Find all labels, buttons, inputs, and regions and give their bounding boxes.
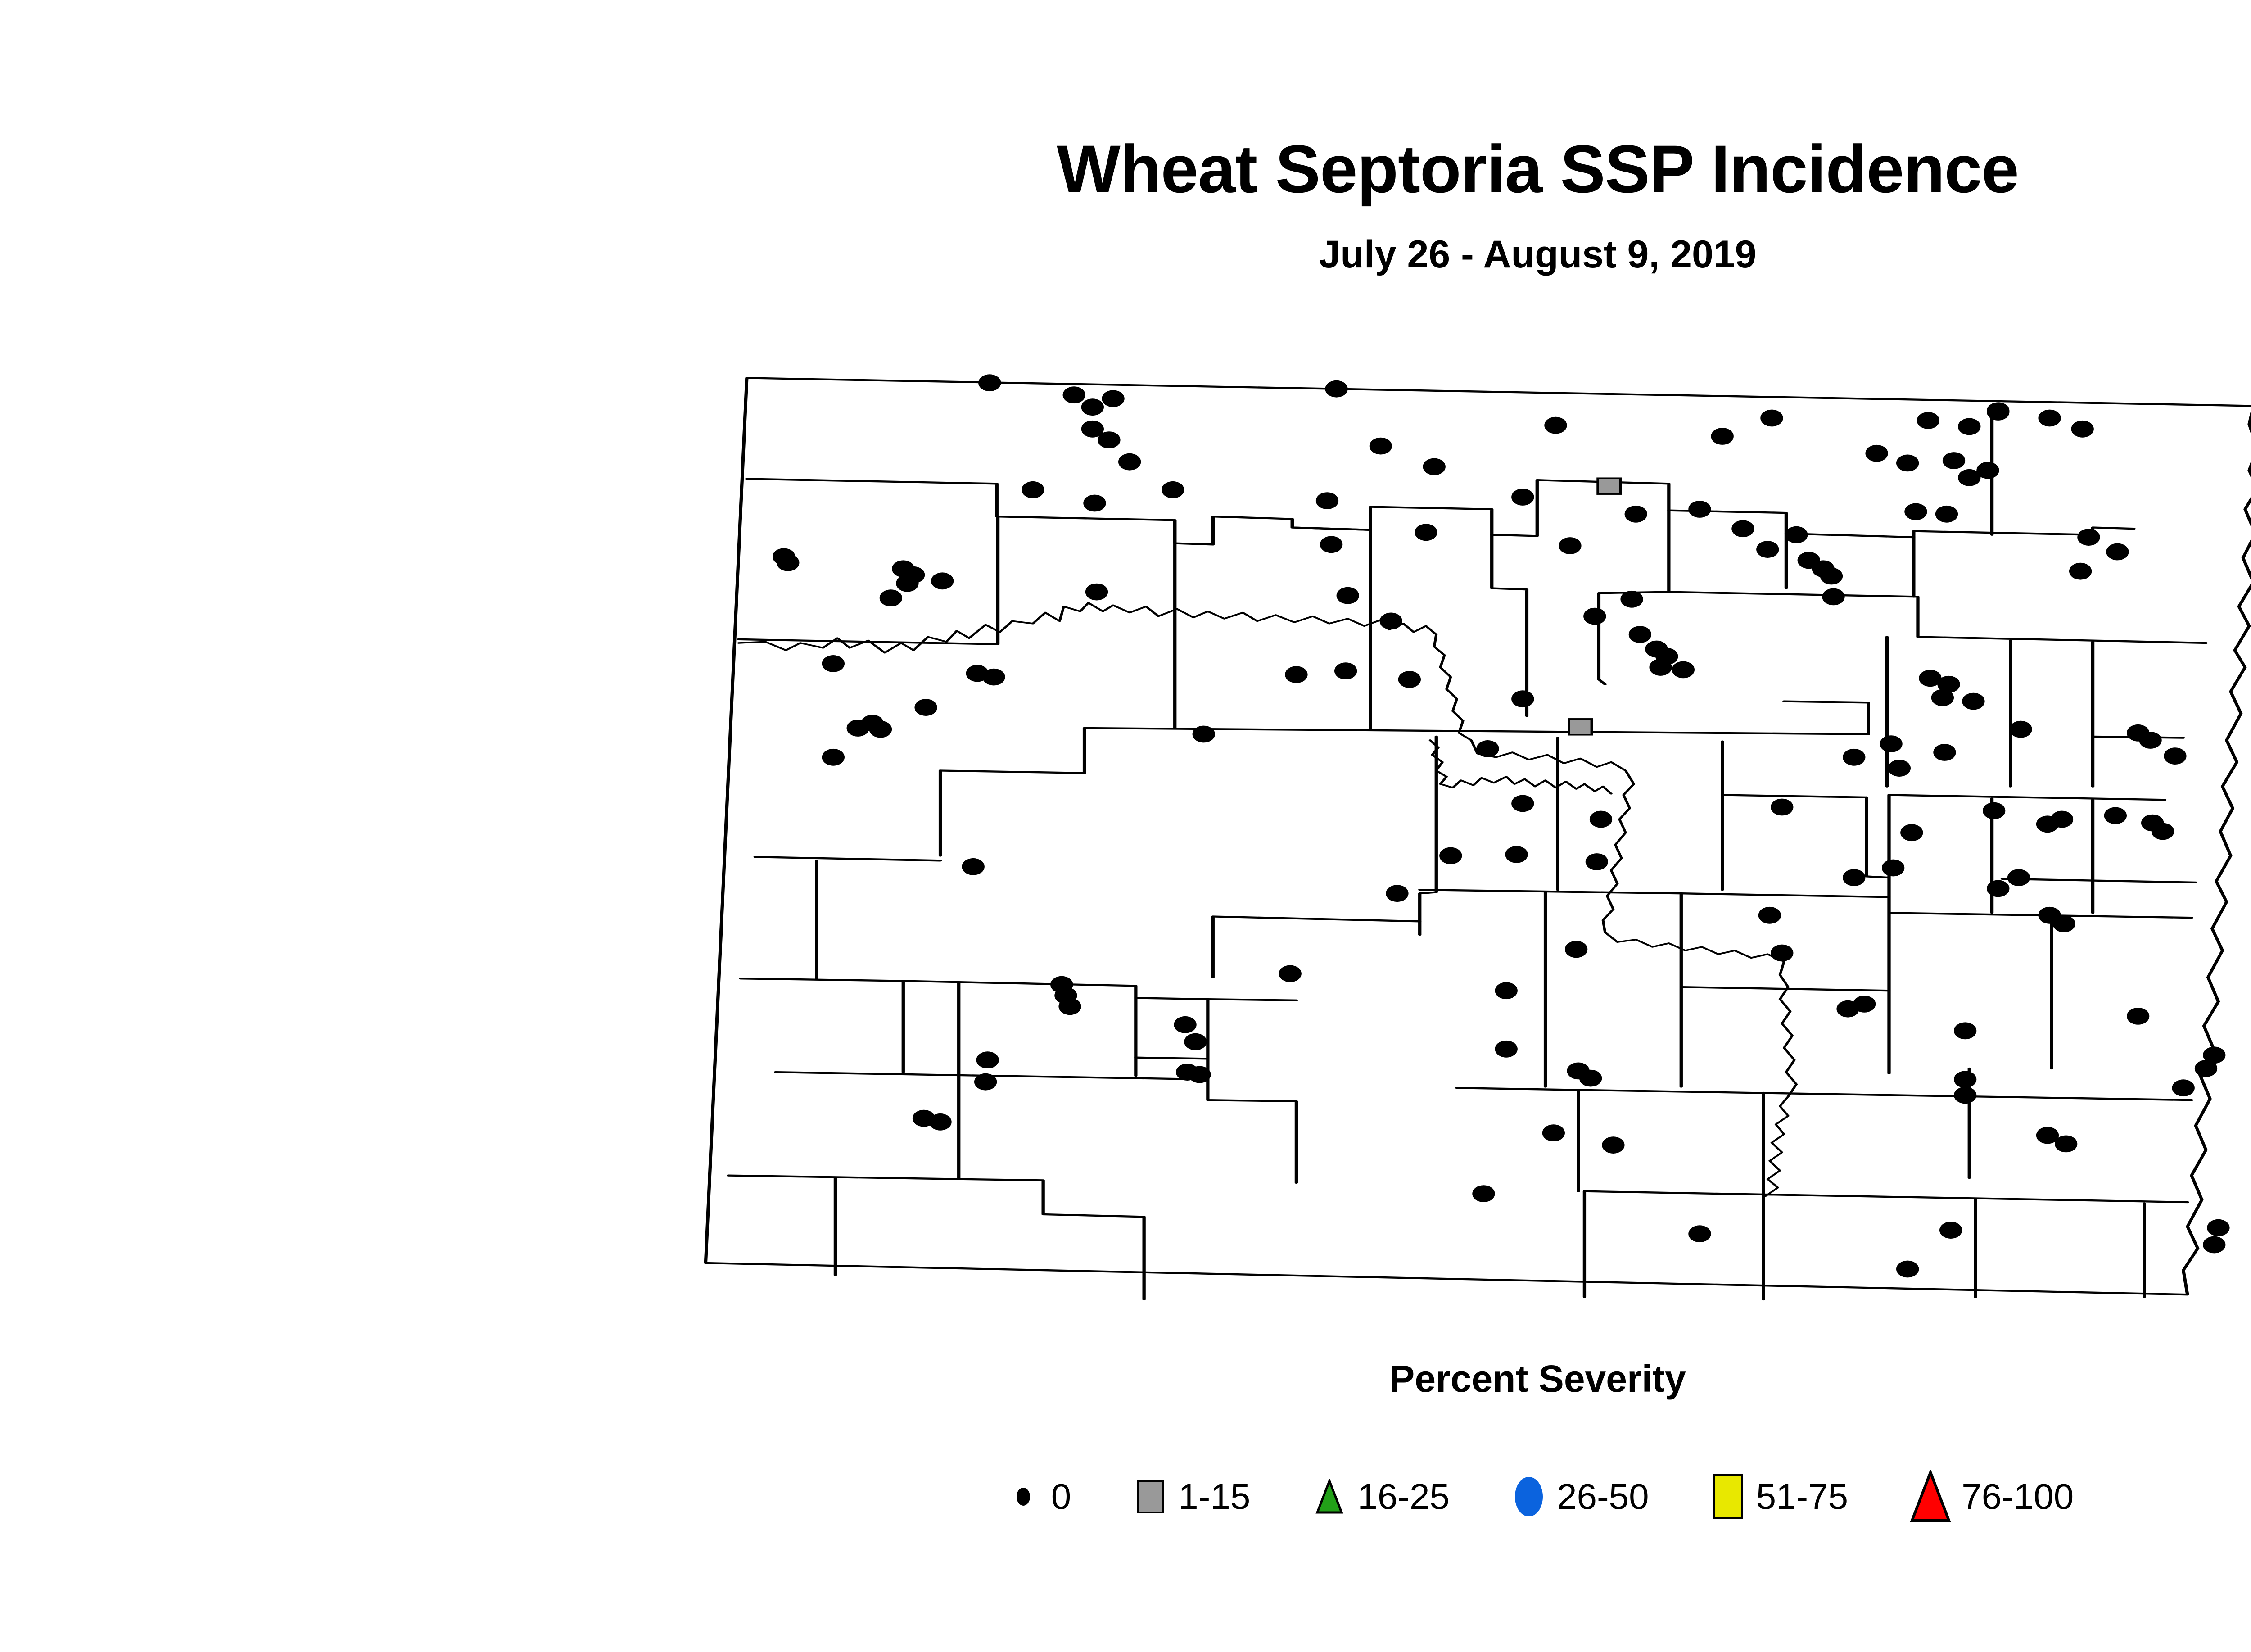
county-div-26 bbox=[2002, 879, 2196, 883]
legend-item-26-50[interactable]: 26-50 bbox=[1507, 1470, 1649, 1524]
map-data-point bbox=[2069, 563, 2092, 580]
tier-line-9 bbox=[728, 1176, 959, 1179]
legend-label-51-75: 51-75 bbox=[1756, 1479, 1849, 1515]
map-data-point bbox=[1063, 386, 1085, 403]
severity-1-15-icon bbox=[1129, 1470, 1172, 1524]
county-div-15 bbox=[2093, 641, 2206, 643]
map-data-point bbox=[1320, 536, 1342, 553]
map-data-point bbox=[1495, 982, 1518, 999]
map-data-point bbox=[1325, 380, 1347, 398]
missouri-river-upper bbox=[739, 603, 1634, 932]
map-data-point bbox=[1933, 744, 1956, 761]
map-data-point bbox=[1785, 526, 1808, 543]
county-div-7 bbox=[1599, 511, 1668, 593]
map-data-point bbox=[1865, 445, 1888, 462]
map-data-point bbox=[1598, 478, 1620, 494]
map-data-point bbox=[2104, 807, 2127, 824]
map-data-point bbox=[2077, 529, 2100, 546]
map-data-point bbox=[1602, 1136, 1624, 1154]
county-div-37 bbox=[1136, 1058, 1208, 1059]
missouri-river-lower bbox=[1605, 932, 1796, 1097]
map-data-point bbox=[1423, 458, 1446, 475]
severity-0-icon bbox=[1002, 1470, 1045, 1524]
map-data-point bbox=[982, 669, 1005, 686]
legend-label-26-50: 26-50 bbox=[1557, 1479, 1649, 1515]
map-data-point bbox=[1771, 945, 1793, 962]
map-data-point bbox=[1316, 492, 1338, 509]
map-data-point bbox=[1954, 1071, 1976, 1088]
map-data-point bbox=[1081, 398, 1104, 416]
map-data-point bbox=[2052, 915, 2075, 932]
map-data-point bbox=[2051, 811, 2073, 828]
tier-line-7b bbox=[903, 981, 1136, 1076]
tier-line-11 bbox=[1584, 1191, 2187, 1202]
map-data-point bbox=[1880, 735, 1902, 752]
map-data-point bbox=[1843, 869, 1865, 886]
map-data-point bbox=[2207, 1219, 2229, 1236]
map-data-point bbox=[2071, 421, 2094, 438]
map-data-point bbox=[1756, 541, 1779, 558]
map-data-point bbox=[1542, 1124, 1565, 1141]
map-data-point bbox=[1098, 431, 1120, 448]
map-data-point bbox=[777, 554, 799, 571]
map-data-point bbox=[1386, 885, 1408, 902]
map-data-point bbox=[1962, 693, 1984, 710]
map-data-point bbox=[1822, 588, 1844, 606]
map-data-point bbox=[931, 572, 954, 589]
tier-line-9b bbox=[959, 1179, 1144, 1299]
map-data-point bbox=[2139, 732, 2161, 749]
map-data-point bbox=[1495, 1041, 1518, 1058]
map-data-point bbox=[1888, 760, 1911, 777]
map-data-point bbox=[896, 575, 918, 592]
county-boundaries bbox=[705, 378, 2251, 1299]
legend-label-16-25: 16-25 bbox=[1357, 1479, 1450, 1515]
page-title: Wheat Septoria SSP Incidence bbox=[1057, 135, 2019, 203]
legend-item-16-25[interactable]: 16-25 bbox=[1308, 1470, 1450, 1524]
map-data-point bbox=[1569, 719, 1591, 735]
map-data-point bbox=[1939, 1222, 1962, 1239]
map-data-point bbox=[1987, 880, 2009, 897]
map-data-point bbox=[1625, 506, 1647, 523]
map-data-point bbox=[880, 589, 902, 606]
map-data-point bbox=[1629, 626, 1651, 643]
map-data-point bbox=[2106, 543, 2129, 561]
county-div-12 bbox=[1918, 637, 2093, 787]
map-data-point bbox=[1472, 1185, 1495, 1202]
map-data-point bbox=[1184, 1033, 1207, 1050]
map-data-point bbox=[1058, 998, 1081, 1015]
map-data-point bbox=[1620, 591, 1643, 608]
tier-line-1 bbox=[747, 479, 1370, 545]
map-data-point bbox=[1511, 690, 1534, 707]
legend-title: Percent Severity bbox=[1389, 1360, 1686, 1398]
map-data-point bbox=[1853, 996, 1876, 1013]
map-data-point bbox=[1083, 495, 1106, 512]
page-subtitle: July 26 - August 9, 2019 bbox=[1319, 235, 1757, 274]
map-data-point bbox=[1370, 438, 1392, 455]
map-data-point bbox=[1505, 846, 1528, 863]
tier-line-5 bbox=[1213, 917, 1419, 922]
map-data-point bbox=[1579, 1070, 1602, 1087]
map-data-point bbox=[1771, 799, 1793, 816]
map-data-point bbox=[2007, 869, 2030, 886]
legend-item-51-75[interactable]: 51-75 bbox=[1707, 1470, 1849, 1524]
map-data-point bbox=[1544, 417, 1567, 434]
county-div-22 bbox=[1889, 795, 2165, 800]
map-data-point bbox=[929, 1113, 951, 1131]
county-div-20 bbox=[1722, 795, 1867, 797]
map-data-point bbox=[1102, 390, 1124, 407]
map-data-point bbox=[1118, 453, 1141, 471]
map-data-point bbox=[1904, 503, 1927, 520]
map-data-point bbox=[1896, 1261, 1919, 1278]
map-data-point bbox=[1688, 1225, 1711, 1242]
map-data-point bbox=[1943, 452, 1965, 469]
map-data-point bbox=[1688, 501, 1711, 518]
legend-item-1-15[interactable]: 1-15 bbox=[1129, 1470, 1250, 1524]
map-data-point bbox=[1843, 749, 1865, 766]
devils-lake bbox=[1430, 740, 1611, 794]
map-data-point bbox=[1334, 662, 1357, 679]
map-data-point bbox=[1565, 941, 1587, 958]
devils-lake-shore bbox=[1430, 740, 1611, 794]
map-data-point bbox=[2164, 747, 2186, 765]
map-data-point bbox=[1337, 587, 1359, 604]
map-data-point bbox=[1174, 1016, 1196, 1033]
map-data-point bbox=[1285, 666, 1307, 683]
severity-76-100-icon bbox=[1906, 1467, 1955, 1526]
tier-line-4 bbox=[1420, 890, 1681, 1086]
map-data-point bbox=[976, 1051, 999, 1068]
legend-item-0[interactable]: 0 bbox=[1002, 1470, 1071, 1524]
map-data-point bbox=[1022, 481, 1044, 498]
tier-line-10b bbox=[1969, 1096, 2192, 1100]
county-div-17 bbox=[1420, 737, 1437, 935]
map-data-point bbox=[1731, 520, 1754, 537]
legend-label-76-100: 76-100 bbox=[1962, 1479, 2074, 1515]
map-data-point bbox=[1900, 824, 1923, 841]
map-data-point bbox=[1954, 1022, 1976, 1039]
north-dakota-map bbox=[693, 351, 2251, 1324]
map-data-point bbox=[1188, 1066, 1211, 1083]
map-data-point bbox=[1476, 740, 1499, 757]
map-data-point bbox=[1649, 659, 1672, 676]
map-data-point bbox=[1511, 489, 1534, 506]
figure-root: Wheat Septoria SSP Incidence July 26 - A… bbox=[0, 0, 2251, 1652]
map-data-point bbox=[1917, 412, 1939, 429]
legend-label-0: 0 bbox=[1051, 1479, 1071, 1515]
map-data-point bbox=[1758, 907, 1781, 924]
map-data-point bbox=[2203, 1046, 2225, 1064]
map-data-point bbox=[978, 374, 1001, 391]
map-data-point bbox=[1958, 418, 1980, 435]
map-data-point bbox=[2038, 410, 2061, 427]
map-data-point bbox=[1398, 671, 1421, 688]
county-div-38 bbox=[1136, 1078, 1297, 1183]
county-div-36 bbox=[1208, 999, 1297, 1000]
map-data-point bbox=[1590, 811, 1612, 828]
map-data-point bbox=[1711, 428, 1734, 445]
map-data-point bbox=[1439, 847, 1462, 864]
legend: Percent Severity 0 1-15 bbox=[0, 1360, 2251, 1526]
map-data-point bbox=[822, 749, 845, 766]
sheyenne-river bbox=[1766, 1096, 1788, 1196]
map-data-point bbox=[914, 699, 937, 716]
severity-26-50-icon bbox=[1507, 1470, 1550, 1524]
map-data-point bbox=[1954, 1087, 1976, 1104]
map-data-point bbox=[2127, 1008, 2149, 1025]
missouri-river bbox=[739, 603, 1797, 1096]
map-data-point bbox=[1085, 584, 1108, 601]
map-data-point bbox=[1279, 965, 1302, 982]
map-data-point bbox=[1983, 802, 2005, 819]
tier-line-6 bbox=[755, 857, 940, 860]
map-data-point bbox=[1193, 726, 1215, 743]
map-data-point bbox=[1882, 860, 1904, 877]
map-data-point bbox=[1958, 469, 1980, 486]
legend-label-1-15: 1-15 bbox=[1178, 1479, 1250, 1515]
map-data-point bbox=[1380, 613, 1402, 630]
legend-items: 0 1-15 16-25 26-50 bbox=[1002, 1467, 2074, 1526]
map-data-point bbox=[1760, 410, 1783, 427]
county-div-6 bbox=[1599, 593, 1605, 684]
map-data-point bbox=[1162, 481, 1184, 498]
tier-line-3b bbox=[940, 728, 1085, 773]
map-data-point bbox=[1583, 608, 1606, 625]
state-outline bbox=[705, 378, 2251, 1294]
map-data-point bbox=[869, 721, 892, 738]
map-data-point bbox=[1672, 661, 1695, 679]
severity-16-25-icon bbox=[1308, 1470, 1351, 1524]
map-data-point bbox=[2152, 823, 2174, 840]
county-div-5 bbox=[1492, 535, 1527, 716]
map-data-point bbox=[962, 858, 985, 875]
map-data-point bbox=[1820, 568, 1843, 585]
map-container bbox=[693, 351, 2251, 1324]
map-data-point bbox=[1511, 795, 1534, 812]
data-points-layer bbox=[773, 374, 2230, 1277]
map-data-point bbox=[2203, 1236, 2225, 1254]
map-data-point bbox=[822, 655, 845, 672]
tier-line-10 bbox=[1457, 1088, 1969, 1096]
map-data-point bbox=[1896, 455, 1919, 472]
legend-item-76-100[interactable]: 76-100 bbox=[1906, 1467, 2074, 1526]
map-data-point bbox=[2172, 1079, 2195, 1096]
map-data-point bbox=[2055, 1136, 2077, 1153]
map-data-point bbox=[1586, 853, 1608, 870]
severity-51-75-icon bbox=[1707, 1470, 1750, 1524]
map-data-point bbox=[1987, 402, 2009, 419]
map-data-point bbox=[1935, 506, 1958, 523]
tier-line-4b bbox=[1681, 893, 1889, 897]
tier-line-8 bbox=[776, 1072, 1136, 1078]
map-data-point bbox=[1931, 689, 1954, 706]
map-data-point bbox=[1559, 537, 1581, 554]
river-segment-lower bbox=[1766, 1096, 1788, 1196]
map-data-point bbox=[2009, 721, 2032, 738]
county-div-9 bbox=[1669, 592, 1918, 637]
map-data-point bbox=[1415, 524, 1437, 541]
tier-line-7 bbox=[741, 978, 903, 981]
map-data-point bbox=[974, 1073, 997, 1091]
